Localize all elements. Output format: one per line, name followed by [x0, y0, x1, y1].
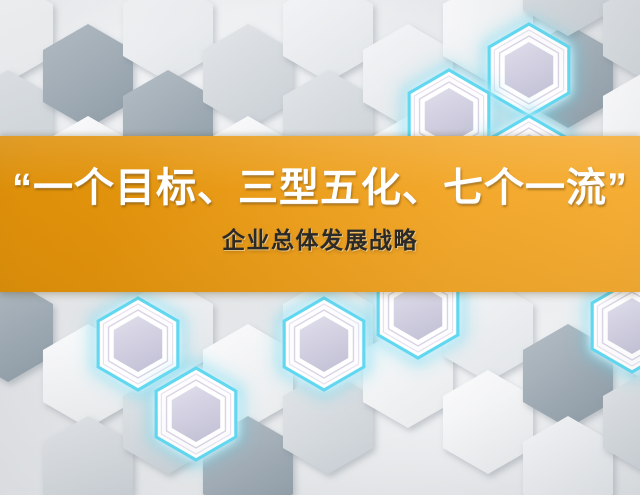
background-hexagon	[203, 24, 293, 128]
page-title: “一个目标、三型五化、七个一流”	[0, 161, 640, 215]
title-banner: “一个目标、三型五化、七个一流” 企业总体发展战略	[0, 136, 640, 292]
background-hexagon	[283, 0, 373, 82]
background-hexagon	[43, 24, 133, 128]
page-subtitle: 企业总体发展战略	[0, 224, 640, 256]
banner-text-block: “一个目标、三型五化、七个一流” 企业总体发展战略	[0, 136, 640, 292]
background-hexagon	[123, 0, 213, 82]
background-hexagon	[443, 370, 533, 474]
background-hexagon	[43, 416, 133, 495]
glowing-hexagon	[280, 293, 368, 395]
background-hexagon	[523, 416, 613, 495]
glowing-hexagon	[152, 363, 240, 465]
glowing-hexagon	[485, 19, 573, 121]
slide-canvas: “一个目标、三型五化、七个一流” 企业总体发展战略	[0, 0, 640, 495]
